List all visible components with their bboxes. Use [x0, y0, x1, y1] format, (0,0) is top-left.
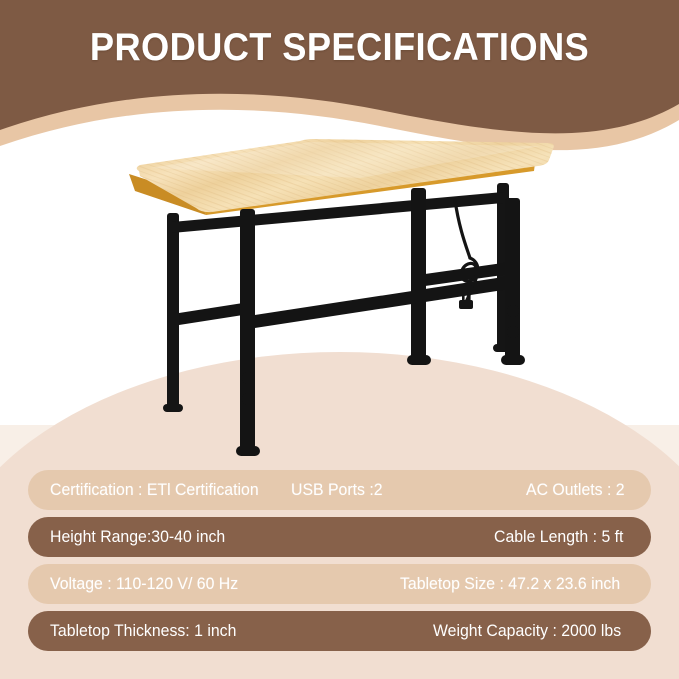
spec-height-range: Height Range:30-40 inch	[50, 528, 225, 547]
spec-ac-outlets: AC Outlets : 2	[526, 481, 625, 500]
spec-certification: Certification : ETl Certification	[50, 481, 259, 500]
spec-tabletop-size: Tabletop Size : 47.2 x 23.6 inch	[400, 575, 620, 594]
spec-usb-ports: USB Ports :2	[291, 481, 383, 500]
spec-row-voltage: Voltage : 110-120 V/ 60 Hz Tabletop Size…	[28, 564, 651, 604]
spec-cable-length: Cable Length : 5 ft	[494, 528, 623, 547]
specifications-list: Certification : ETl Certification USB Po…	[0, 470, 679, 658]
spec-tabletop-thickness: Tabletop Thickness: 1 inch	[50, 622, 236, 641]
left-side-brace	[179, 303, 243, 452]
spec-row-tabletop-thickness: Tabletop Thickness: 1 inch Weight Capaci…	[28, 611, 651, 651]
spec-voltage: Voltage : 110-120 V/ 60 Hz	[50, 575, 238, 594]
spec-weight-capacity: Weight Capacity : 2000 lbs	[433, 622, 621, 641]
product-spec-poster: PRODUCT SPECIFICATIONS	[0, 0, 679, 679]
spec-row-height-range: Height Range:30-40 inch Cable Length : 5…	[28, 517, 651, 557]
workbench-illustration	[0, 0, 679, 470]
spec-row-certification: Certification : ETl Certification USB Po…	[28, 470, 651, 510]
